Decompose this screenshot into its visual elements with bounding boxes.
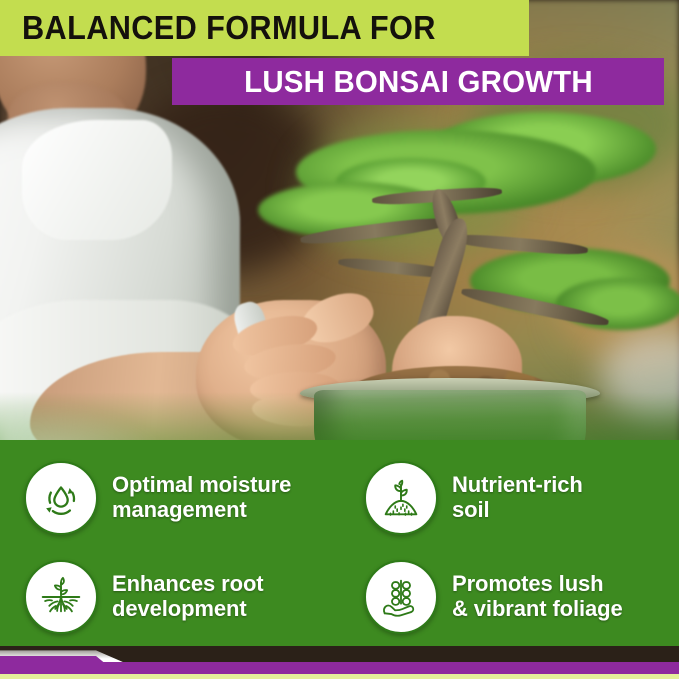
- feature-label-line1: Promotes lush: [452, 571, 604, 596]
- feature-label: Promotes lush & vibrant foliage: [452, 572, 623, 622]
- headline-banner-primary: BALANCED FORMULA FOR: [0, 0, 529, 56]
- feature-item-foliage: Promotes lush & vibrant foliage: [340, 548, 679, 646]
- feature-label-line2: soil: [452, 497, 490, 522]
- feature-label-line1: Optimal moisture: [112, 472, 291, 497]
- feature-label-line2: development: [112, 596, 247, 621]
- features-panel: Optimal moisture management: [0, 440, 679, 646]
- feature-item-roots: Enhances root development: [0, 548, 340, 646]
- feature-label-line2: management: [112, 497, 247, 522]
- headline-line-1: BALANCED FORMULA FOR: [22, 9, 436, 47]
- headline-banner-secondary: LUSH BONSAI GROWTH: [172, 58, 664, 105]
- feature-label-line2: & vibrant foliage: [452, 596, 623, 621]
- feature-label-line1: Enhances root: [112, 571, 264, 596]
- feature-label: Optimal moisture management: [112, 473, 291, 523]
- feature-label-line1: Nutrient-rich: [452, 472, 583, 497]
- hand-holding-grain-icon: [364, 560, 438, 634]
- feature-item-moisture: Optimal moisture management: [0, 448, 340, 548]
- seedling-soil-mound-icon: [364, 461, 438, 535]
- headline-line-2: LUSH BONSAI GROWTH: [244, 64, 593, 100]
- footer-lime-strip: [0, 674, 679, 679]
- features-grid: Optimal moisture management: [0, 448, 679, 646]
- feature-item-soil: Nutrient-rich soil: [340, 448, 679, 548]
- infographic-root: BALANCED FORMULA FOR LUSH BONSAI GROWTH: [0, 0, 679, 679]
- feature-label: Enhances root development: [112, 572, 264, 622]
- water-drop-recycle-icon: [24, 461, 98, 535]
- person-collar: [22, 120, 172, 240]
- bonsai-foliage: [556, 278, 679, 330]
- plant-roots-icon: [24, 560, 98, 634]
- feature-label: Nutrient-rich soil: [452, 473, 583, 523]
